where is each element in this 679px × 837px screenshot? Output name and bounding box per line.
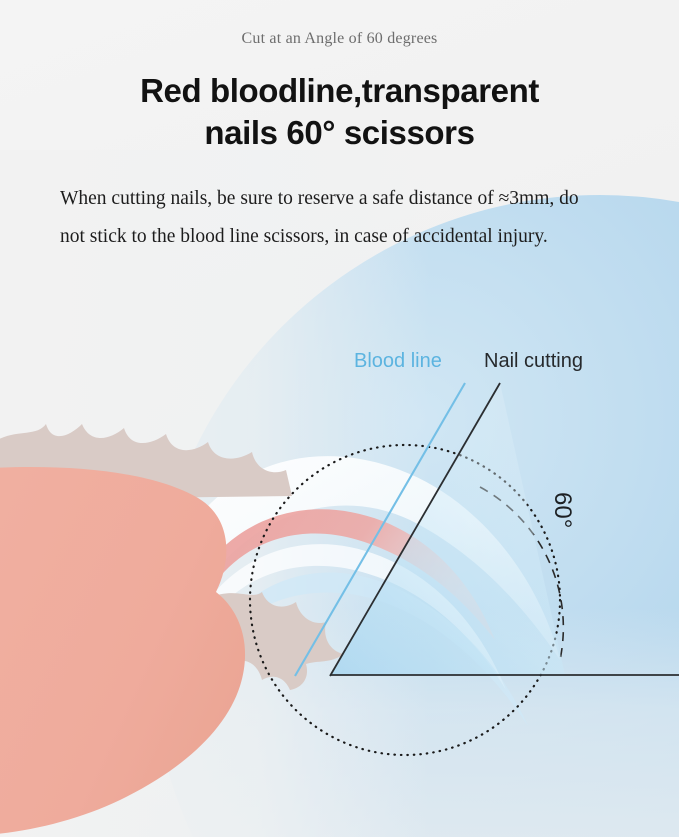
eyebrow-text: Cut at an Angle of 60 degrees [0, 30, 679, 48]
angle-label: 60° [548, 492, 576, 528]
headline-line-1: Red bloodline,transparent [140, 72, 539, 109]
page-title: Red bloodline,transparent nails 60° scis… [0, 70, 679, 154]
header-block: Cut at an Angle of 60 degrees Red bloodl… [0, 0, 679, 257]
blood-line-label: Blood line [354, 350, 442, 373]
infographic-root: Blood line Nail cutting 60° Cut at an An… [0, 0, 679, 837]
headline-line-2: nails 60° scissors [60, 112, 619, 154]
body-paragraph: When cutting nails, be sure to reserve a… [60, 180, 580, 256]
nail-cutting-label: Nail cutting [484, 350, 583, 373]
